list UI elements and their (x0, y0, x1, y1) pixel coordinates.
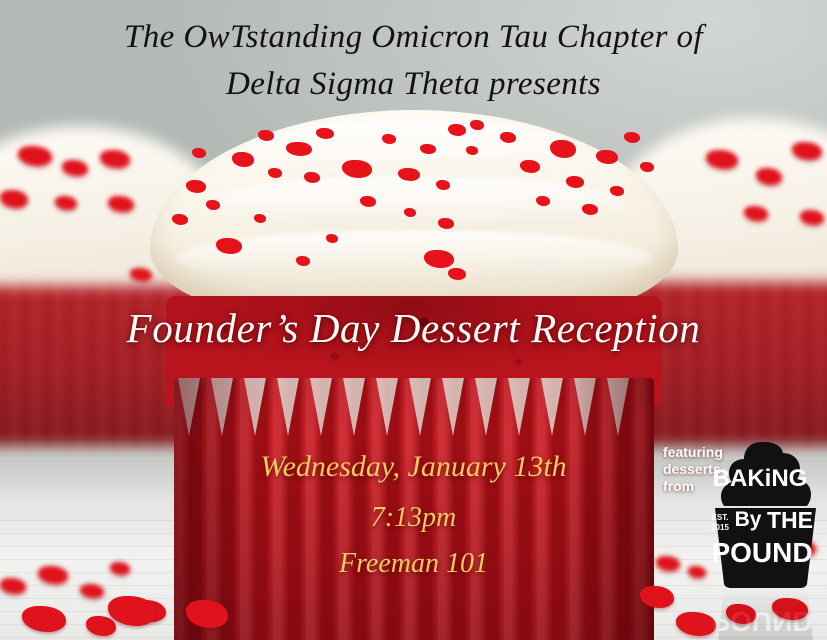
sprinkle (398, 168, 420, 181)
sprinkle (186, 180, 206, 193)
sprinkle (582, 204, 598, 215)
sprinkle (624, 132, 640, 143)
sprinkle (640, 162, 654, 172)
sprinkle (596, 150, 618, 164)
sprinkle (268, 168, 282, 178)
baking-by-the-pound-logo: BAKiNG By THE POUND EST. 2015 (698, 440, 827, 588)
sprinkle (192, 148, 206, 158)
sprinkle (258, 130, 274, 141)
sprinkle (438, 218, 454, 229)
sprinkle (216, 238, 242, 254)
sprinkle (420, 144, 436, 154)
logo-text-est: EST. (712, 513, 729, 522)
sprinkle (286, 142, 312, 156)
sprinkle (610, 186, 624, 196)
sprinkle (550, 140, 576, 158)
sprinkle (404, 208, 416, 217)
sprinkle (500, 132, 516, 143)
sprinkle (470, 120, 484, 130)
sprinkle (254, 214, 266, 223)
sprinkle (448, 124, 466, 136)
sprinkle (566, 176, 584, 188)
sprinkle (382, 134, 396, 144)
sprinkle (172, 214, 188, 225)
logo-text-baking: BAKiNG (713, 465, 808, 492)
sprinkle (436, 180, 450, 190)
logo-text-year: 2015 (711, 523, 729, 532)
sprinkle (326, 234, 338, 243)
sprinkle (232, 152, 254, 167)
flyer-poster: The OwTstanding Omicron Tau Chapter of D… (0, 0, 827, 640)
logo-reflection: POUND (698, 586, 827, 640)
sprinkle (316, 128, 334, 139)
sprinkle (360, 196, 376, 207)
header-line-1: The OwTstanding Omicron Tau Chapter of (0, 19, 827, 56)
sprinkle (466, 146, 478, 155)
header-line-2: Delta Sigma Theta presents (0, 66, 827, 103)
sprinkle (304, 172, 320, 183)
logo-reflection-text: POUND (711, 606, 812, 637)
event-title: Founder’s Day Dessert Reception (0, 304, 827, 352)
sprinkle (520, 160, 540, 173)
frosting-swirl (204, 176, 624, 234)
sprinkle (448, 268, 466, 280)
frosting-swirl (176, 230, 652, 286)
logo-text-by: By (735, 508, 762, 531)
sprinkle (206, 200, 220, 210)
cupcake-logo-icon: BAKiNG By THE POUND EST. 2015 (698, 440, 827, 588)
sprinkle (536, 196, 550, 206)
sprinkle (296, 256, 310, 266)
logo-text-the: THE (767, 507, 813, 533)
logo-text-pound: POUND (711, 537, 812, 568)
